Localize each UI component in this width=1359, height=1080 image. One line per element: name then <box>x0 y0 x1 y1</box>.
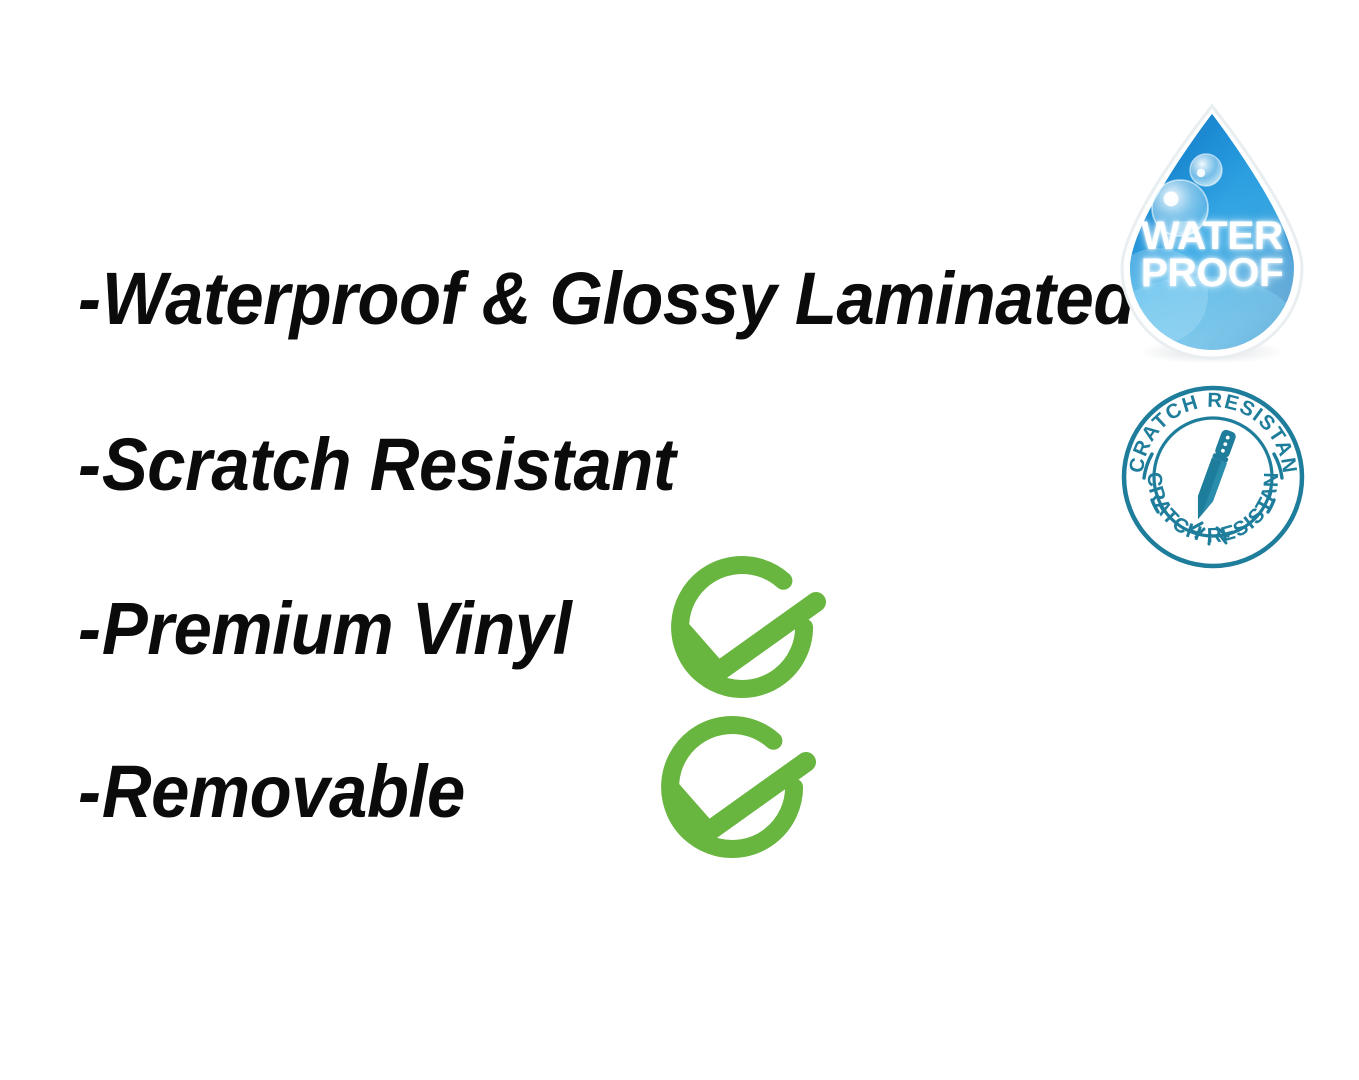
feature-label: Scratch Resistant <box>102 423 675 506</box>
knife-stamp-icon: SCRATCH RESISTANT SCRATCH RESISTANT <box>1118 382 1308 572</box>
feature-label: Removable <box>102 750 465 833</box>
feature-line-removable: -Removable <box>78 755 465 829</box>
feature-dash: - <box>78 587 102 670</box>
feature-label: Waterproof & Glossy Laminated <box>102 257 1135 340</box>
feature-dash: - <box>78 750 102 833</box>
feature-dash: - <box>78 423 102 506</box>
feature-dash: - <box>78 257 102 340</box>
scratch-resistant-badge: SCRATCH RESISTANT SCRATCH RESISTANT <box>1118 382 1308 572</box>
check-mark-premium-vinyl <box>640 552 850 732</box>
knife-icon <box>1190 428 1237 522</box>
product-feature-graphic: -Waterproof & Glossy Laminated -Scratch … <box>0 0 1359 1080</box>
check-circle-icon <box>640 552 850 732</box>
bubble-small-icon <box>1190 154 1222 186</box>
feature-label: Premium Vinyl <box>102 587 571 670</box>
feature-line-scratch-resistant: -Scratch Resistant <box>78 428 675 502</box>
stamp-top-text: SCRATCH RESISTANT <box>1118 382 1301 476</box>
check-mark-removable <box>630 712 840 892</box>
water-drop-icon <box>1098 100 1326 362</box>
waterproof-badge: WATER PROOF <box>1098 100 1326 362</box>
feature-line-waterproof-glossy-laminated: -Waterproof & Glossy Laminated <box>78 262 1135 336</box>
feature-line-premium-vinyl: -Premium Vinyl <box>78 592 571 666</box>
check-circle-icon <box>630 712 840 892</box>
